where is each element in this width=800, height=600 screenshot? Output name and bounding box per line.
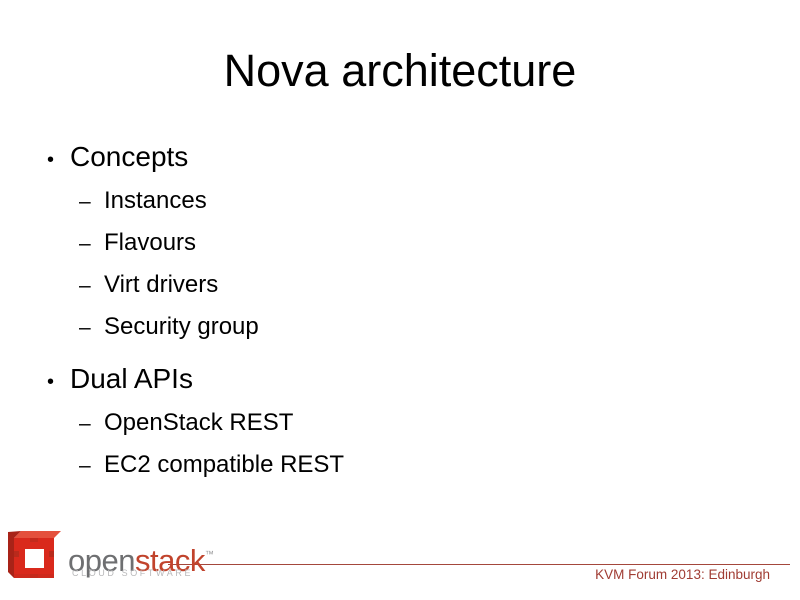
slide-outline: • Concepts – Instances – Flavours – Virt… [44, 136, 756, 486]
outline-item-label: Flavours [104, 222, 196, 264]
bullet-dash-icon: – [79, 265, 104, 307]
outline-item-level2: – Security group [44, 306, 756, 348]
footer-event-label: KVM Forum 2013: Edinburgh [595, 566, 770, 584]
bullet-dash-icon: – [79, 307, 104, 349]
trademark-icon: ™ [205, 549, 214, 559]
outline-item-label: Virt drivers [104, 264, 218, 306]
bullet-dot-icon: • [44, 361, 70, 403]
outline-item-level2: – Flavours [44, 222, 756, 264]
outline-item-level2: – OpenStack REST [44, 402, 756, 444]
presentation-slide: Nova architecture • Concepts – Instances… [0, 0, 800, 600]
outline-spacer [44, 348, 756, 358]
outline-item-level1: • Dual APIs [44, 358, 756, 402]
bullet-dash-icon: – [79, 445, 104, 487]
footer-divider [168, 564, 790, 565]
outline-item-label: EC2 compatible REST [104, 444, 344, 486]
outline-item-level2: – Virt drivers [44, 264, 756, 306]
page-title: Nova architecture [0, 46, 800, 96]
bullet-dash-icon: – [79, 223, 104, 265]
bullet-dot-icon: • [44, 139, 70, 181]
outline-item-label: Concepts [70, 136, 188, 178]
openstack-logo: openstack™ CLOUD SOFTWARE [8, 527, 173, 585]
outline-item-label: OpenStack REST [104, 402, 293, 444]
openstack-cube-icon [8, 529, 62, 581]
bullet-dash-icon: – [79, 181, 104, 223]
outline-item-level2: – Instances [44, 180, 756, 222]
logo-tagline: CLOUD SOFTWARE [72, 567, 193, 579]
outline-item-level2: – EC2 compatible REST [44, 444, 756, 486]
outline-item-level1: • Concepts [44, 136, 756, 180]
outline-item-label: Dual APIs [70, 358, 193, 400]
outline-item-label: Instances [104, 180, 207, 222]
bullet-dash-icon: – [79, 403, 104, 445]
outline-item-label: Security group [104, 306, 259, 348]
